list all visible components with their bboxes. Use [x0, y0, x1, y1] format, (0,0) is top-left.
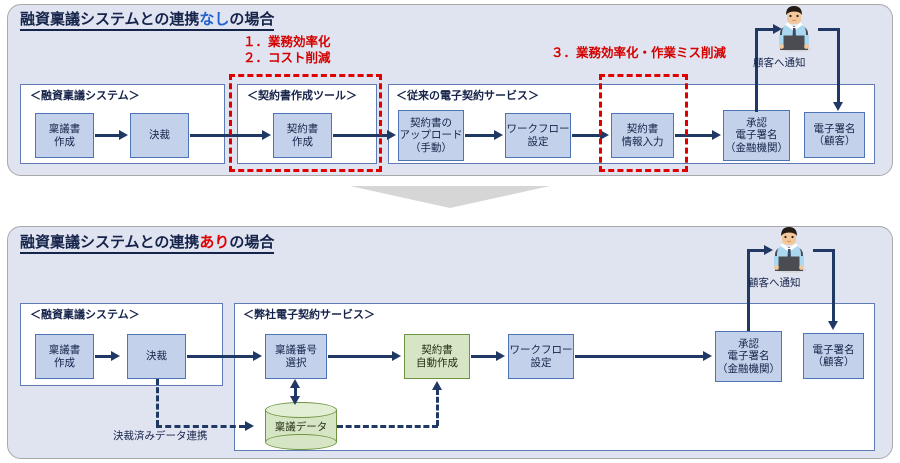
arrow-approve-up-top — [755, 28, 758, 112]
arrow-b3-b4 — [328, 355, 392, 358]
arrow-b5-b6 — [575, 355, 703, 358]
arrowhead-t6-t7 — [712, 130, 721, 140]
arrowhead-b3-b4 — [392, 351, 401, 361]
top-panel-title: 融資稟議システムとの連携なしの場合 — [20, 11, 274, 31]
bottom-title-suffix: の場合 — [229, 234, 274, 251]
ringi-database[interactable]: 稟議データ — [265, 402, 337, 450]
highlight-contract-tool — [229, 74, 382, 172]
customer-person-icon-top — [773, 4, 815, 52]
arrowhead-t4-t5 — [494, 130, 503, 140]
group-label-our-esign-service: ＜弊社電子契約サービス＞ — [243, 309, 375, 321]
arrow-b4-b5 — [471, 355, 496, 358]
arrowhead-t1-t2 — [119, 130, 128, 140]
arrowhead-person-down-top — [833, 102, 843, 111]
arrow-t5-t6 — [572, 134, 600, 137]
node-workflow-setting-bottom[interactable]: ワークフロー 設定 — [508, 334, 574, 379]
arrow-t4-t5 — [465, 134, 494, 137]
bottom-title-accent: あり — [199, 234, 229, 251]
node-approve-sign-bank-bottom[interactable]: 承認 電子署名 （金融機関） — [715, 331, 782, 382]
dash-decision-to-db — [156, 425, 245, 428]
node-select-ringi-number[interactable]: 稟議番号 選択 — [265, 334, 327, 379]
notify-customer-label-top: 顧客へ通知 — [753, 57, 806, 69]
arrow-t1-t2 — [95, 134, 119, 137]
arrowhead-person-down-bottom — [828, 321, 838, 330]
arrowhead-t3-t4 — [387, 130, 396, 140]
top-title-prefix: 融資稟議システムとの連携 — [20, 11, 199, 28]
arrowhead-dash-auto-up — [432, 381, 442, 390]
group-label-loan-approval-system-bottom: ＜融資稟議システム＞ — [30, 309, 140, 321]
customer-person-icon-bottom — [768, 225, 810, 273]
highlight-contract-info-input — [599, 74, 688, 172]
arrowhead-b1-b2 — [111, 351, 120, 361]
node-sign-customer-top[interactable]: 電子署名 （顧客） — [804, 112, 865, 158]
node-sign-customer-bottom[interactable]: 電子署名 （顧客） — [803, 333, 864, 379]
note-efficiency-error: ３．業務効率化・作業ミス削減 — [551, 45, 726, 61]
db-label: 稟議データ — [265, 402, 337, 450]
arrow-person-down-bottom — [832, 249, 835, 323]
data-link-label: 決裁済みデータ連携 — [113, 430, 208, 442]
bottom-title-prefix: 融資稟議システムとの連携 — [20, 234, 199, 251]
transition-down-arrow — [350, 186, 550, 208]
node-contract-upload-top[interactable]: 契約書の アップロード （手動） — [398, 110, 464, 161]
arrowhead-b2-b3 — [253, 351, 262, 361]
arrow-b2-b3 — [187, 355, 253, 358]
diagram-canvas: 融資稟議システムとの連携なしの場合 １．業務効率化 ２．コスト削減 ３．業務効率… — [0, 0, 900, 463]
arrow-person-down-top — [837, 28, 840, 104]
arrow-notify-bottom — [747, 249, 764, 252]
node-approve-sign-bank-top[interactable]: 承認 電子署名 （金融機関） — [723, 110, 790, 161]
arrowhead-b5-b6 — [703, 351, 712, 361]
dash-db-to-auto — [337, 425, 438, 428]
dash-decision-down — [156, 379, 159, 426]
notify-customer-label-bottom: 顧客へ通知 — [748, 277, 801, 289]
arrowhead-b4-b5 — [496, 351, 505, 361]
arrowhead-b3-db-up — [290, 379, 300, 388]
node-workflow-setting-top[interactable]: ワークフロー 設定 — [505, 113, 571, 158]
note-efficiency-cost: １．業務効率化 ２．コスト削減 — [243, 34, 331, 66]
arrowhead-b3-db-down — [290, 396, 300, 405]
top-title-accent: なし — [199, 11, 229, 28]
node-ringi-create-top[interactable]: 稟議書 作成 — [35, 113, 94, 158]
arrow-approve-up-bottom — [747, 249, 750, 331]
arrow-b1-b2 — [95, 355, 111, 358]
node-ringi-create-bottom[interactable]: 稟議書 作成 — [35, 334, 94, 379]
bottom-panel-title: 融資稟議システムとの連携ありの場合 — [20, 234, 274, 254]
node-contract-auto-create[interactable]: 契約書 自動作成 — [404, 334, 470, 379]
arrow-notify-top — [755, 28, 773, 31]
arrowhead-dash-to-db — [245, 421, 254, 431]
node-decision-bottom[interactable]: 決裁 — [127, 334, 186, 379]
node-decision-top[interactable]: 決裁 — [130, 113, 189, 158]
dash-auto-up — [436, 389, 439, 426]
top-title-suffix: の場合 — [229, 11, 274, 28]
group-label-loan-approval-system-top: ＜融資稟議システム＞ — [30, 90, 140, 102]
group-label-legacy-esign-service-top: ＜従来の電子契約サービス＞ — [396, 90, 539, 102]
